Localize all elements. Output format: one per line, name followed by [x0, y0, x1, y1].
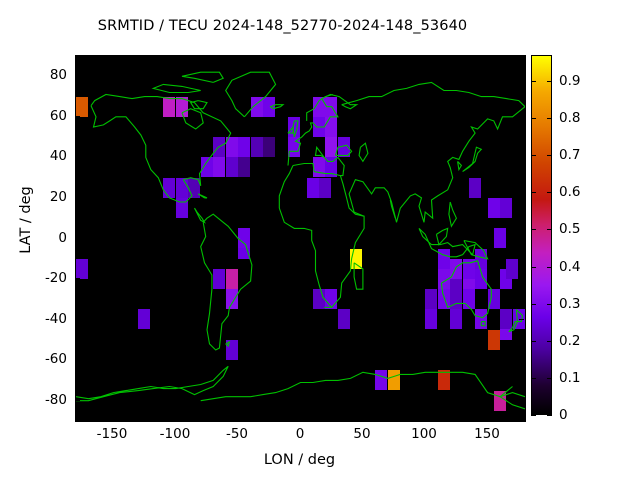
colorbar-tick	[531, 118, 536, 119]
x-axis-tick	[112, 415, 113, 420]
plot-area[interactable]	[75, 55, 526, 422]
colorbar-tick-label: 0.4	[559, 259, 580, 275]
colorbar-tick	[547, 118, 552, 119]
coastline-path	[458, 161, 462, 169]
heatmap-canvas	[76, 56, 525, 421]
x-axis-tick-label: -50	[207, 426, 267, 442]
coastline-path	[481, 322, 485, 326]
x-axis-tick-label: -100	[145, 426, 205, 442]
coastline-path	[279, 176, 364, 308]
colorbar-tick	[531, 192, 536, 193]
y-axis-tick-label: 40	[27, 148, 67, 164]
colorbar-tick	[547, 341, 552, 342]
coastline-path	[195, 208, 205, 222]
coastline-path	[198, 194, 207, 198]
y-axis-tick-label: -40	[27, 311, 67, 327]
colorbar-tick	[547, 415, 552, 416]
x-axis-tick	[175, 55, 176, 60]
coastline-path	[226, 72, 276, 117]
x-axis-tick-label: 0	[270, 426, 330, 442]
x-axis-tick-label: 100	[394, 426, 454, 442]
y-axis-tick	[519, 197, 524, 198]
colorbar-tick-label: 0.3	[559, 296, 580, 312]
coastline-overlay	[76, 56, 525, 421]
y-axis-tick	[519, 75, 524, 76]
colorbar-tick	[531, 267, 536, 268]
colorbar-tick	[547, 155, 552, 156]
colorbar-tick	[531, 378, 536, 379]
colorbar-tick	[547, 192, 552, 193]
figure-root: SRMTID / TECU 2024-148_52770-2024-148_53…	[0, 0, 640, 480]
coastline-path	[279, 166, 293, 209]
y-axis-tick-label: 0	[27, 230, 67, 246]
x-axis-tick	[300, 55, 301, 60]
coastline-path	[182, 72, 223, 82]
y-axis-tick	[75, 238, 80, 239]
coastline-path	[153, 84, 200, 92]
colorbar-tick	[531, 81, 536, 82]
colorbar-tick-label: 0.9	[559, 73, 580, 89]
y-axis-tick	[519, 278, 524, 279]
colorbar-tick-label: 0.1	[559, 370, 580, 386]
y-axis-tick	[75, 319, 80, 320]
coastline-path	[500, 387, 525, 409]
coastline-path	[288, 127, 293, 133]
coastline-path	[182, 109, 203, 129]
y-axis-tick	[75, 116, 80, 117]
coastline-path	[359, 143, 368, 161]
y-axis-tick	[519, 156, 524, 157]
x-axis-tick	[112, 55, 113, 60]
coastline-path	[463, 147, 482, 171]
coastline-path	[436, 228, 447, 244]
x-axis-tick-label: -150	[82, 426, 142, 442]
coastline-path	[335, 145, 351, 155]
colorbar-tick	[531, 341, 536, 342]
y-axis-tick	[519, 116, 524, 117]
colorbar-tick	[547, 378, 552, 379]
colorbar-gradient	[532, 56, 551, 414]
y-axis-tick-label: 60	[27, 108, 67, 124]
coastline-path	[226, 342, 230, 346]
colorbar-tick	[531, 229, 536, 230]
y-axis-tick	[519, 238, 524, 239]
x-axis-tick	[424, 55, 425, 60]
colorbar-tick-label: 0.7	[559, 147, 580, 163]
x-axis-tick-label: 50	[332, 426, 392, 442]
coastline-path	[354, 263, 363, 289]
y-axis-tick-label: -60	[27, 351, 67, 367]
y-axis-tick-label: 80	[27, 67, 67, 83]
colorbar-tick	[547, 304, 552, 305]
coastline-path	[293, 121, 298, 137]
y-axis-tick-label: -80	[27, 392, 67, 408]
coastline-path	[307, 95, 333, 121]
colorbar-tick	[531, 304, 536, 305]
y-axis-tick	[75, 400, 80, 401]
x-axis-tick	[300, 415, 301, 420]
coastline-path	[449, 202, 457, 226]
y-axis-tick-label: 20	[27, 189, 67, 205]
colorbar-tick-label: 0	[559, 407, 568, 423]
x-axis-tick	[487, 415, 488, 420]
x-axis-tick	[175, 415, 176, 420]
colorbar-tick	[547, 267, 552, 268]
x-axis-tick	[362, 55, 363, 60]
x-axis-tick	[362, 415, 363, 420]
coastline-path	[390, 200, 395, 218]
y-axis-tick	[75, 75, 80, 76]
colorbar-tick	[531, 415, 536, 416]
coastline-path	[349, 107, 525, 223]
coastline-path	[201, 214, 252, 350]
y-axis-tick	[519, 359, 524, 360]
y-axis-tick	[75, 278, 80, 279]
x-axis-tick	[237, 415, 238, 420]
coastline-path	[271, 105, 283, 109]
y-axis-tick	[75, 359, 80, 360]
coastline-path	[201, 372, 525, 400]
x-axis-tick	[487, 55, 488, 60]
coastline-path	[509, 310, 523, 332]
coastline-path	[91, 95, 231, 203]
colorbar-tick	[547, 229, 552, 230]
y-axis-tick	[519, 400, 524, 401]
colorbar-tick-label: 0.5	[559, 221, 580, 237]
colorbar-tick	[547, 81, 552, 82]
colorbar-tick-label: 0.8	[559, 110, 580, 126]
x-axis-title: LON / deg	[75, 452, 524, 468]
y-axis-tick-label: -20	[27, 270, 67, 286]
colorbar-tick-label: 0.2	[559, 333, 580, 349]
colorbar-tick	[531, 155, 536, 156]
chart-title: SRMTID / TECU 2024-148_52770-2024-148_53…	[0, 18, 565, 34]
coastline-path	[441, 261, 491, 318]
coastline-path	[76, 366, 228, 400]
y-axis-tick	[75, 197, 80, 198]
y-axis-tick	[75, 156, 80, 157]
x-axis-tick	[237, 55, 238, 60]
colorbar-tick-label: 0.6	[559, 184, 580, 200]
y-axis-tick	[519, 319, 524, 320]
coastline-path	[342, 82, 525, 106]
x-axis-tick	[424, 415, 425, 420]
colorbar[interactable]	[531, 55, 552, 415]
x-axis-tick-label: 150	[457, 426, 517, 442]
